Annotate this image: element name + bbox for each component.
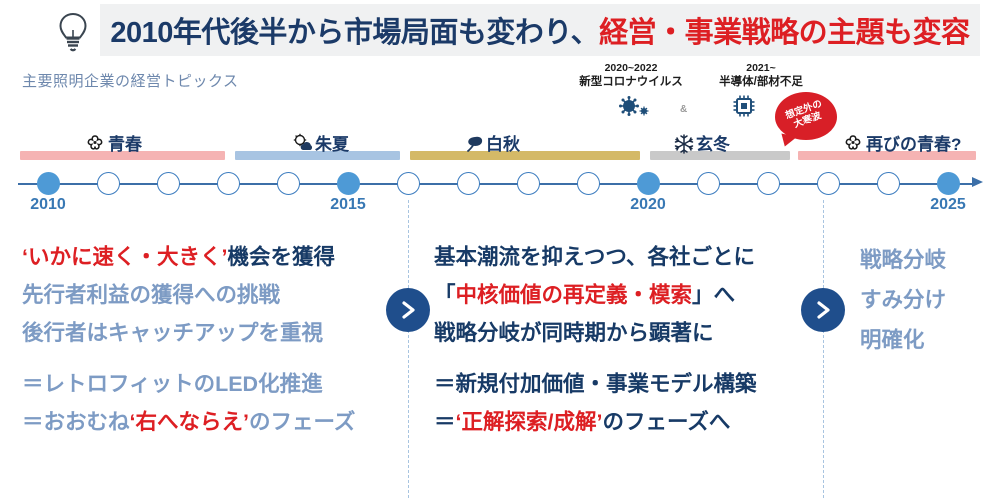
cherry-blossom-icon — [85, 133, 105, 153]
page-title: 2010年代後半から市場局面も変わり、経営・事業戦略の主題も変容 — [110, 9, 969, 51]
text-line: ＝‘正解探索/成解’のフェーズへ — [434, 403, 757, 441]
text-line: すみ分け — [860, 280, 946, 320]
event-callout-covid: 2020~2022 新型コロナウイルス — [566, 62, 696, 90]
text-segment: のフェーズ — [249, 410, 355, 434]
lightbulb-icon — [50, 8, 96, 54]
cherry-blossom-icon — [843, 133, 863, 153]
page-title-red: 経営・事業戦略の主題も変容 — [599, 17, 970, 49]
subtitle: 主要照明企業の経営トピックス — [22, 70, 239, 91]
text-segment: 基本潮流を抑えつつ、各社ごとに — [434, 245, 755, 269]
text-segment: 先行者利益の獲得への挑戦 — [22, 283, 280, 307]
timeline-dot[interactable] — [37, 172, 60, 195]
event-years: 2021~ — [696, 62, 826, 75]
virus-icon — [617, 96, 651, 123]
season-label-autumn: 白秋 — [463, 130, 520, 155]
text-line: ＝おおむね‘右へならえ’のフェーズ — [22, 403, 355, 441]
text-segment: 戦略分岐 — [860, 248, 946, 272]
timeline-arrow-icon — [972, 177, 983, 187]
chevron-right-icon — [801, 288, 845, 332]
timeline-dot[interactable] — [157, 172, 180, 195]
chip-icon — [732, 94, 756, 123]
status-badge: 想定外の 大寒波 — [775, 92, 837, 140]
column-middle: 基本潮流を抑えつつ、各社ごとに 「中核価値の再定義・模索」へ 戦略分岐が同時期か… — [434, 238, 757, 441]
season-label-text: 朱夏 — [315, 130, 349, 155]
season-label-text: 玄冬 — [696, 130, 730, 155]
timeline-dot[interactable] — [217, 172, 240, 195]
timeline-dot[interactable] — [877, 172, 900, 195]
timeline-dot[interactable] — [97, 172, 120, 195]
text-segment: ‘右へならえ’ — [130, 410, 249, 434]
spacer — [434, 352, 757, 365]
season-label-text: 再びの青春? — [866, 130, 961, 155]
text-segment: ＝新規付加価値・事業モデル構築 — [434, 372, 757, 396]
text-segment: ＝ — [434, 410, 456, 434]
infographic-root: 2010年代後半から市場局面も変わり、経営・事業戦略の主題も変容 主要照明企業の… — [0, 0, 1000, 500]
text-segment: 戦略分岐が同時期から顕著に — [434, 321, 714, 345]
chevron-right-icon — [386, 288, 430, 332]
text-segment: ‘正解探索/成解’ — [456, 410, 603, 434]
timeline-year-label: 2015 — [318, 196, 378, 214]
text-line: 基本潮流を抑えつつ、各社ごとに — [434, 238, 757, 276]
text-line: 「中核価値の再定義・模索」へ — [434, 276, 757, 314]
status-badge-label: 想定外の 大寒波 — [784, 99, 827, 133]
timeline-dot[interactable] — [937, 172, 960, 195]
column-right: 戦略分岐 すみ分け 明確化 — [860, 240, 946, 360]
text-line: 後行者はキャッチアップを重視 — [22, 314, 355, 352]
text-segment: ‘いかに速く・大きく’ — [22, 245, 227, 269]
season-label-spring: 青春 — [85, 130, 142, 155]
text-line: ＝新規付加価値・事業モデル構築 — [434, 365, 757, 403]
text-segment: すみ分け — [860, 288, 946, 312]
timeline-dot[interactable] — [697, 172, 720, 195]
text-segment: 後行者はキャッチアップを重視 — [22, 321, 323, 345]
timeline-year-label: 2020 — [618, 196, 678, 214]
text-line: ‘いかに速く・大きく’機会を獲得 — [22, 238, 355, 276]
event-years: 2020~2022 — [566, 62, 696, 75]
text-segment: 明確化 — [860, 328, 925, 352]
event-label: 新型コロナウイルス — [566, 75, 696, 89]
event-label: 半導体/部材不足 — [696, 75, 826, 89]
season-label-text: 青春 — [108, 130, 142, 155]
text-line: 明確化 — [860, 320, 946, 360]
season-label-summer: 朱夏 — [292, 130, 349, 155]
timeline-dot[interactable] — [637, 172, 660, 195]
season-label-winter: 玄冬 — [673, 130, 730, 155]
season-bar-autumn — [410, 151, 640, 160]
sun-cloud-icon — [292, 133, 312, 153]
timeline-dot[interactable] — [817, 172, 840, 195]
page-title-navy: 2010年代後半から市場局面も変わり、 — [110, 17, 599, 49]
text-segment: 「 — [434, 283, 456, 307]
text-segment: ＝レトロフィットのLED化推進 — [22, 372, 323, 396]
page-title-bar: 2010年代後半から市場局面も変わり、経営・事業戦略の主題も変容 — [100, 4, 980, 56]
spacer — [22, 352, 355, 365]
season-label-spring2: 再びの青春? — [843, 130, 961, 155]
text-line: 先行者利益の獲得への挑戦 — [22, 276, 355, 314]
timeline-year-label: 2025 — [918, 196, 978, 214]
timeline-year-label: 2010 — [18, 196, 78, 214]
event-conjunction: & — [680, 104, 687, 115]
text-line: ＝レトロフィットのLED化推進 — [22, 365, 355, 403]
column-left: ‘いかに速く・大きく’機会を獲得 先行者利益の獲得への挑戦 後行者はキャッチアッ… — [22, 238, 355, 441]
text-segment: 」へ — [692, 283, 735, 307]
timeline-dot[interactable] — [277, 172, 300, 195]
timeline-dot[interactable] — [457, 172, 480, 195]
snowflake-icon — [673, 133, 693, 153]
timeline-dot[interactable] — [577, 172, 600, 195]
text-line: 戦略分岐が同時期から顕著に — [434, 314, 757, 352]
text-segment: 中核価値の再定義・模索 — [456, 283, 693, 307]
ginkgo-leaf-icon — [463, 133, 483, 153]
text-segment: 機会を獲得 — [227, 245, 335, 269]
text-line: 戦略分岐 — [860, 240, 946, 280]
column-divider — [408, 200, 409, 498]
text-segment: のフェーズへ — [602, 410, 730, 434]
text-segment: ＝おおむね — [22, 410, 130, 434]
timeline-dot[interactable] — [517, 172, 540, 195]
event-callout-semiconductor: 2021~ 半導体/部材不足 — [696, 62, 826, 90]
timeline-dot[interactable] — [337, 172, 360, 195]
column-divider — [823, 200, 824, 498]
season-label-text: 白秋 — [486, 130, 520, 155]
timeline-dot[interactable] — [757, 172, 780, 195]
timeline-dot[interactable] — [397, 172, 420, 195]
